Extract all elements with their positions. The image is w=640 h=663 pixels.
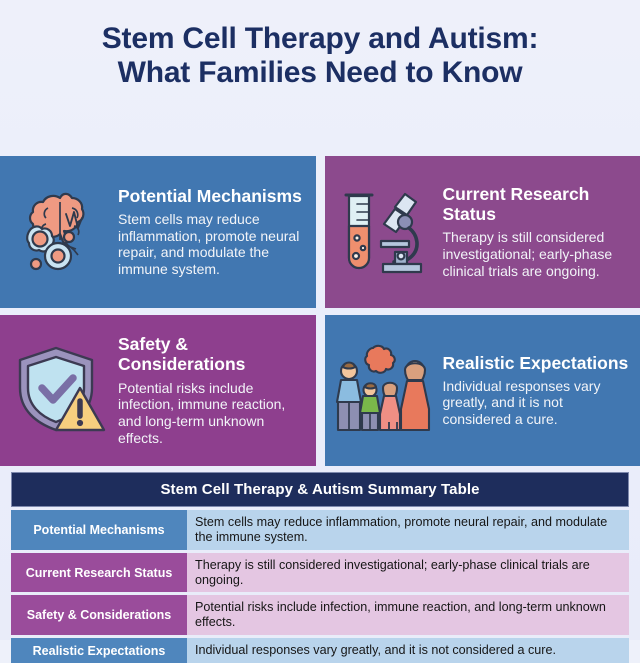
table-row-label: Potential Mechanisms <box>11 510 187 550</box>
page-title-line-1: Stem Cell Therapy and Autism: <box>18 22 622 56</box>
card-text-safety-considerations: Safety & Considerations Potential risks … <box>114 334 306 446</box>
summary-table-header: Stem Cell Therapy & Autism Summary Table <box>11 472 629 507</box>
card-potential-mechanisms: Potential Mechanisms Stem cells may redu… <box>0 156 316 308</box>
card-heading: Realistic Expectations <box>443 353 631 373</box>
infographic-page: Stem Cell Therapy and Autism: What Famil… <box>0 0 640 640</box>
table-row: Realistic Expectations Individual respon… <box>11 638 629 663</box>
card-safety-considerations: Safety & Considerations Potential risks … <box>0 315 316 467</box>
table-row-label: Current Research Status <box>11 553 187 593</box>
shield-check-and-warning-icon <box>6 336 114 444</box>
card-text-current-research-status: Current Research Status Therapy is still… <box>439 184 631 279</box>
card-body: Potential risks include infection, immun… <box>118 380 306 447</box>
table-row-value: Stem cells may reduce inflammation, prom… <box>187 510 629 550</box>
table-row: Safety & Considerations Potential risks … <box>11 595 629 635</box>
table-row-value: Individual responses vary greatly, and i… <box>187 638 629 663</box>
table-row-label: Safety & Considerations <box>11 595 187 635</box>
card-body: Stem cells may reduce inflammation, prom… <box>118 211 306 278</box>
card-realistic-expectations: Realistic Expectations Individual respon… <box>325 315 640 467</box>
page-title-line-2: What Families Need to Know <box>18 56 622 90</box>
table-row-label: Realistic Expectations <box>11 638 187 663</box>
test-tube-and-microscope-icon <box>331 178 439 286</box>
table-row-value: Therapy is still considered investigatio… <box>187 553 629 593</box>
card-current-research-status: Current Research Status Therapy is still… <box>325 156 640 308</box>
card-body: Therapy is still considered investigatio… <box>443 229 631 279</box>
card-text-potential-mechanisms: Potential Mechanisms Stem cells may redu… <box>114 186 306 278</box>
table-row: Potential Mechanisms Stem cells may redu… <box>11 510 629 550</box>
card-text-realistic-expectations: Realistic Expectations Individual respon… <box>439 353 631 428</box>
card-heading: Safety & Considerations <box>118 334 306 374</box>
card-body: Individual responses vary greatly, and i… <box>443 378 631 428</box>
card-heading: Current Research Status <box>443 184 631 224</box>
summary-table: Stem Cell Therapy & Autism Summary Table… <box>11 472 629 663</box>
family-and-puzzle-piece-icon <box>331 336 439 444</box>
cards-grid: Potential Mechanisms Stem cells may redu… <box>0 156 640 466</box>
table-row: Current Research Status Therapy is still… <box>11 553 629 593</box>
card-heading: Potential Mechanisms <box>118 186 306 206</box>
page-title: Stem Cell Therapy and Autism: What Famil… <box>0 0 640 100</box>
brain-and-stem-cells-icon <box>6 178 114 286</box>
table-row-value: Potential risks include infection, immun… <box>187 595 629 635</box>
